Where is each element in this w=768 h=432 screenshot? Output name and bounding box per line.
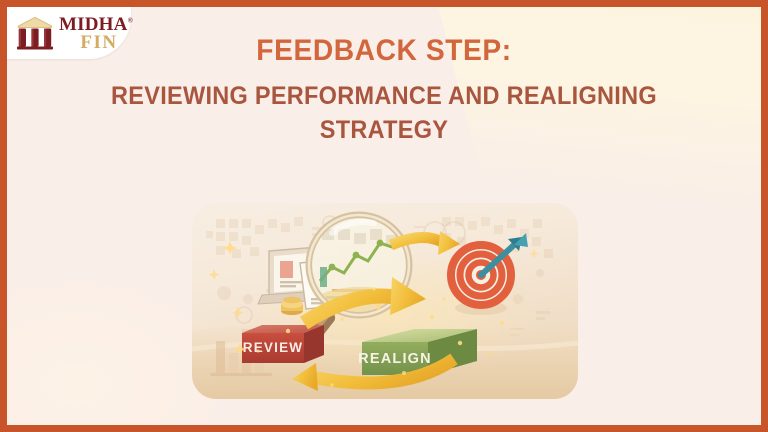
logo-primary-text: MIDHA®	[59, 15, 133, 34]
page-title: FEEDBACK STEP:	[30, 33, 739, 68]
feedback-loop-illustration: REALIGN REVIEW	[192, 203, 578, 399]
review-block: REVIEW	[242, 325, 324, 363]
illustration-canvas: REALIGN REVIEW	[192, 203, 578, 399]
bank-building-icon	[15, 15, 55, 51]
coins-icon	[281, 297, 303, 315]
logo-secondary-text: FIN	[59, 33, 133, 52]
slide-frame: MIDHA® FIN FEEDBACK STEP: REVIEWING PERF…	[0, 0, 768, 432]
brand-logo[interactable]: MIDHA® FIN	[7, 7, 131, 59]
review-block-label: REVIEW	[243, 340, 303, 355]
slide-canvas: MIDHA® FIN FEEDBACK STEP: REVIEWING PERF…	[7, 7, 761, 425]
realign-block-label: REALIGN	[358, 351, 432, 367]
registered-trademark-icon: ®	[128, 16, 133, 24]
page-subtitle: REVIEWING PERFORMANCE AND REALIGNING STR…	[30, 80, 739, 147]
